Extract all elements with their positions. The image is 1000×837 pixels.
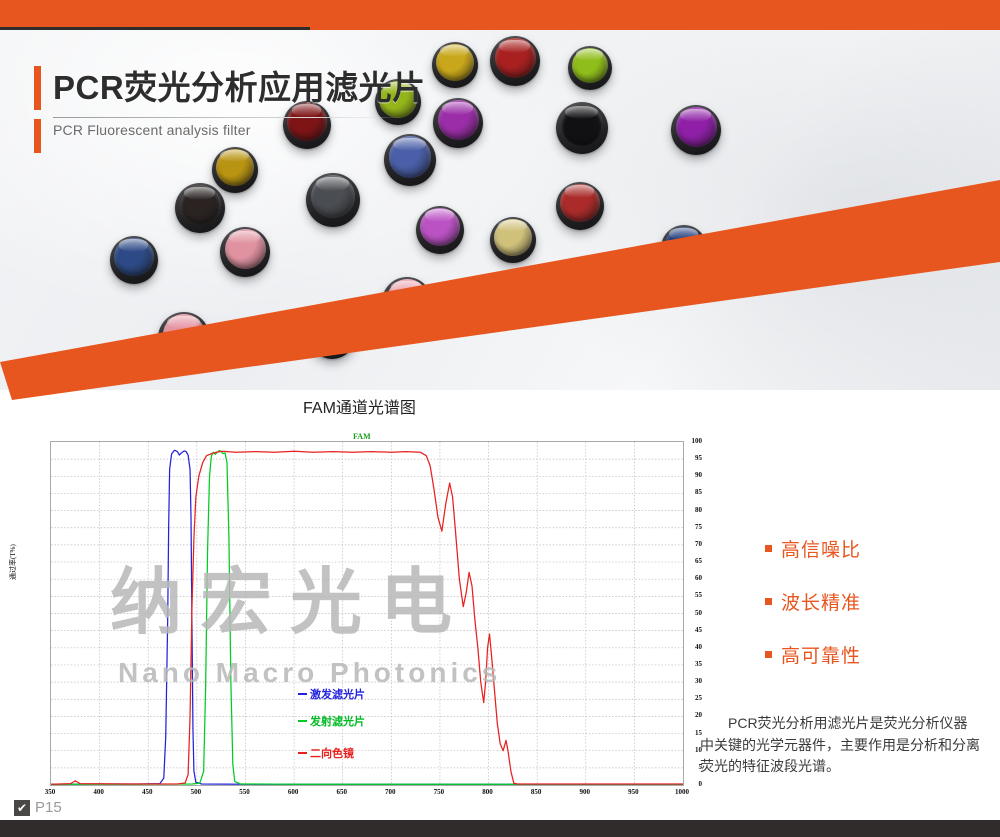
filter-red-1 xyxy=(490,36,540,86)
footer: ✔ P15 xyxy=(0,797,1000,820)
bullet-square-icon xyxy=(765,651,772,658)
orange-diagonal-band xyxy=(0,150,1000,400)
legend-dash-blue xyxy=(298,693,307,695)
x-tick-700: 700 xyxy=(385,788,396,796)
x-tick-450: 450 xyxy=(142,788,153,796)
title-row: PCR荧光分析应用滤光片 xyxy=(34,66,454,110)
title-block: PCR荧光分析应用滤光片 PCR Fluorescent analysis fi… xyxy=(34,66,454,138)
legend-dash-red xyxy=(298,752,307,754)
x-tick-750: 750 xyxy=(434,788,445,796)
x-tick-950: 950 xyxy=(628,788,639,796)
subtitle-accent-bar xyxy=(34,119,41,153)
x-tick-1000: 1000 xyxy=(675,788,689,796)
feature-label-2: 波长精准 xyxy=(781,588,861,615)
feature-bullet-list: 高信噪比 波长精准 高可靠性 xyxy=(765,535,861,694)
check-icon: ✔ xyxy=(14,800,30,816)
top-orange-bar xyxy=(0,0,1000,30)
feature-bullet: 高可靠性 xyxy=(765,641,861,668)
title-accent-bar xyxy=(34,66,41,110)
bullet-square-icon xyxy=(765,598,772,605)
x-tick-350: 350 xyxy=(45,788,56,796)
legend-excitation-filter: 激发滤光片 xyxy=(298,686,365,702)
legend-label-dichroic: 二向色镜 xyxy=(310,748,354,760)
filter-glass xyxy=(676,107,717,147)
page-subtitle: PCR Fluorescent analysis filter xyxy=(53,122,454,138)
description-paragraph: PCR荧光分析用滤光片是荧光分析仪器中关键的光学元器件，主要作用是分析和分离荧光… xyxy=(700,713,980,778)
x-tick-800: 800 xyxy=(482,788,493,796)
x-tick-550: 550 xyxy=(239,788,250,796)
feature-bullet: 波长精准 xyxy=(765,588,861,615)
page-number: P15 xyxy=(35,799,62,816)
legend-dichroic-mirror: 二向色镜 xyxy=(298,745,354,761)
x-tick-500: 500 xyxy=(191,788,202,796)
chart-heading: FAM通道光谱图 xyxy=(303,394,416,418)
x-tick-850: 850 xyxy=(531,788,542,796)
feature-label-1: 高信噪比 xyxy=(781,535,861,562)
chart-title-label: FAM xyxy=(353,432,371,441)
watermark-english: Nano Macro Photonics xyxy=(118,657,501,689)
legend-label-excitation: 激发滤光片 xyxy=(310,689,365,701)
filter-purple-2 xyxy=(671,105,721,155)
legend-dash-green xyxy=(298,720,307,722)
footer-dark-bar xyxy=(0,820,1000,837)
feature-label-3: 高可靠性 xyxy=(781,641,861,668)
filter-green-1 xyxy=(568,46,612,90)
x-tick-900: 900 xyxy=(580,788,591,796)
filter-glass xyxy=(572,48,608,83)
y-axis-label: 通过率(T%) xyxy=(8,544,18,580)
x-tick-400: 400 xyxy=(93,788,104,796)
page-root: PCR荧光分析应用滤光片 PCR Fluorescent analysis fi… xyxy=(0,0,1000,837)
title-divider xyxy=(53,117,403,118)
page-title: PCR荧光分析应用滤光片 xyxy=(53,71,426,106)
legend-label-emission: 发射滤光片 xyxy=(310,716,365,728)
x-tick-650: 650 xyxy=(336,788,347,796)
filter-glass xyxy=(561,104,604,146)
filter-black-1 xyxy=(556,102,608,154)
x-tick-600: 600 xyxy=(288,788,299,796)
legend-emission-filter: 发射滤光片 xyxy=(298,713,365,729)
filter-glass xyxy=(495,38,536,78)
feature-bullet: 高信噪比 xyxy=(765,535,861,562)
bullet-square-icon xyxy=(765,545,772,552)
watermark-chinese: 纳宏光电 xyxy=(110,543,470,648)
